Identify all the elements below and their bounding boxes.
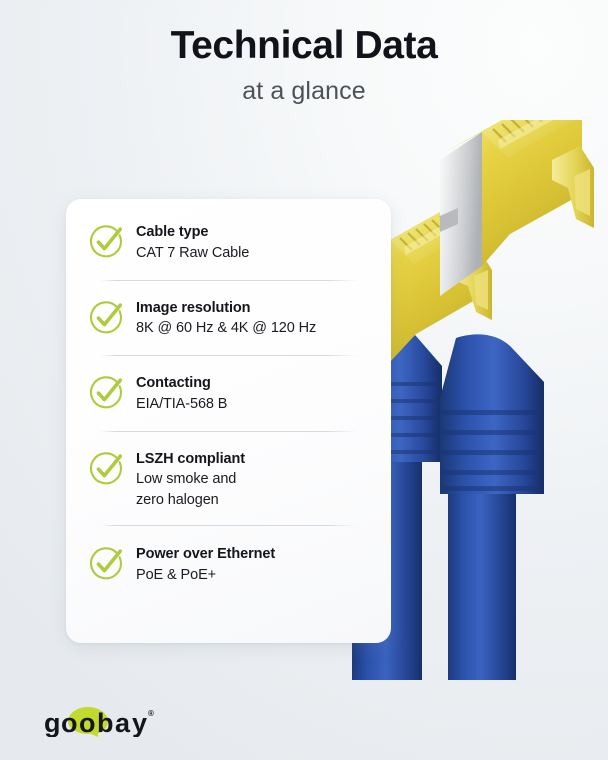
svg-text:o: o bbox=[61, 708, 77, 737]
spec-row: LSZH compliantLow smoke and zero halogen bbox=[66, 432, 391, 526]
spec-value: CAT 7 Raw Cable bbox=[136, 243, 249, 264]
spec-title: Image resolution bbox=[136, 298, 316, 319]
rj45-connector-right bbox=[440, 120, 594, 680]
infographic-page: Technical Data at a glance bbox=[0, 0, 608, 760]
spec-title: LSZH compliant bbox=[136, 449, 245, 470]
spec-title: Cable type bbox=[136, 222, 249, 243]
spec-title: Contacting bbox=[136, 373, 227, 394]
spec-text: Cable typeCAT 7 Raw Cable bbox=[136, 221, 249, 264]
svg-text:g: g bbox=[44, 708, 60, 737]
spec-row: Cable typeCAT 7 Raw Cable bbox=[66, 205, 391, 280]
check-circle-icon bbox=[88, 448, 126, 487]
check-circle-icon bbox=[88, 221, 126, 260]
spec-value: PoE & PoE+ bbox=[136, 565, 275, 586]
spec-list: Cable typeCAT 7 Raw CableImage resolutio… bbox=[66, 199, 391, 602]
check-circle-icon bbox=[88, 543, 126, 582]
spec-value: EIA/TIA-568 B bbox=[136, 394, 227, 415]
check-circle-icon bbox=[88, 372, 126, 411]
header: Technical Data at a glance bbox=[0, 24, 608, 106]
page-title: Technical Data bbox=[0, 24, 608, 68]
page-subtitle: at a glance bbox=[0, 77, 608, 106]
spec-row: Image resolution8K @ 60 Hz & 4K @ 120 Hz bbox=[66, 281, 391, 356]
technical-data-card: Cable typeCAT 7 Raw CableImage resolutio… bbox=[66, 199, 391, 643]
spec-value: 8K @ 60 Hz & 4K @ 120 Hz bbox=[136, 318, 316, 339]
spec-value: Low smoke and zero halogen bbox=[136, 469, 245, 511]
check-circle-icon bbox=[88, 297, 126, 336]
spec-title: Power over Ethernet bbox=[136, 544, 275, 565]
goobay-logo: g o o b a y ® bbox=[44, 703, 160, 737]
spec-text: LSZH compliantLow smoke and zero halogen bbox=[136, 448, 245, 512]
spec-text: Image resolution8K @ 60 Hz & 4K @ 120 Hz bbox=[136, 297, 316, 340]
svg-text:a: a bbox=[115, 708, 131, 737]
spec-row: ContactingEIA/TIA-568 B bbox=[66, 356, 391, 431]
spec-text: Power over EthernetPoE & PoE+ bbox=[136, 543, 275, 586]
svg-text:b: b bbox=[97, 708, 113, 737]
svg-text:y: y bbox=[132, 708, 147, 737]
spec-text: ContactingEIA/TIA-568 B bbox=[136, 372, 227, 415]
svg-text:®: ® bbox=[148, 709, 154, 718]
svg-text:o: o bbox=[79, 708, 95, 737]
spec-row: Power over EthernetPoE & PoE+ bbox=[66, 526, 391, 602]
